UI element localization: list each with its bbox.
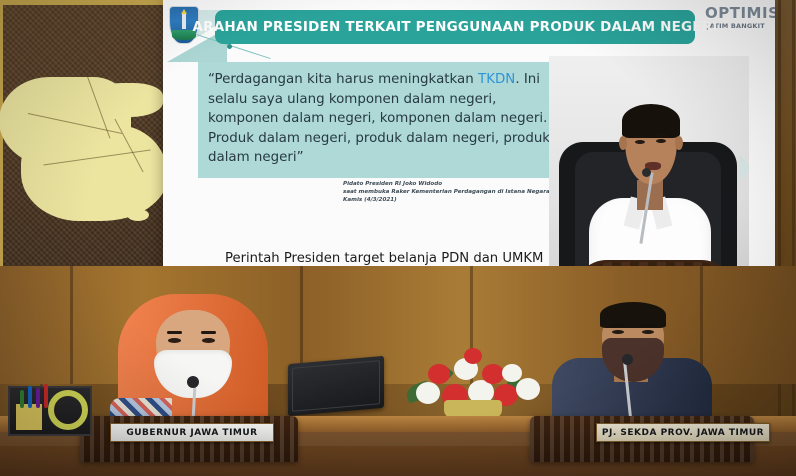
nameplate-governor-label: GUBERNUR JAWA TIMUR: [126, 428, 257, 438]
quote-text: “Perdagangan kita harus meningkatkan TKD…: [208, 70, 608, 168]
slide-title-bar: ARAHAN PRESIDEN TERKAIT PENGGUNAAN PRODU…: [215, 10, 695, 44]
slide-arrow-decoration: [739, 154, 749, 182]
microphone-head: [622, 354, 633, 365]
quote-line5: dalam negeri”: [208, 150, 304, 165]
foreground-room: GUBERNUR JAWA TIMUR PJ. SEKDA PROV. JAWA…: [0, 266, 796, 476]
east-java-relief-map: [0, 0, 176, 300]
map-island-shape: [87, 83, 163, 117]
quote-highlight-tkdn: TKDN: [478, 72, 515, 87]
slide-title: ARAHAN PRESIDEN TERKAIT PENGGUNAAN PRODU…: [192, 19, 717, 35]
map-island-shape: [121, 153, 165, 201]
map-island-shape: [127, 209, 149, 221]
screenshot-stage: OPTIMIS JATIM BANGKIT ARAHAN PRESIDEN TE…: [0, 0, 796, 476]
nameplate-governor: GUBERNUR JAWA TIMUR: [110, 423, 274, 442]
quote-line4: Produk dalam negeri, produk dalam negeri…: [208, 131, 550, 146]
yellow-ring: [48, 390, 88, 430]
nameplate-acting-secretary: PJ. SEKDA PROV. JAWA TIMUR: [596, 423, 770, 442]
desk-organizer: [8, 386, 92, 436]
quote-attribution: Pidato Presiden RI Joko Widodo saat memb…: [343, 180, 573, 205]
attribution-line-3: Kamis (4/3/2021): [343, 196, 573, 204]
map-surface: [3, 5, 165, 289]
quote-line3: komponen dalam negeri, komponen dalam ne…: [208, 111, 547, 126]
nameplate-acting-secretary-label: PJ. SEKDA PROV. JAWA TIMUR: [602, 428, 764, 438]
attribution-line-1: Pidato Presiden RI Joko Widodo: [343, 180, 573, 188]
quote-line2: selalu saya ulang komponen dalam negeri,: [208, 92, 496, 107]
quote-line1-b: . Ini: [515, 72, 540, 87]
microphone-head: [187, 376, 199, 388]
quote-line1-a: “Perdagangan kita harus meningkatkan: [208, 72, 478, 87]
attribution-line-2: saat membuka Raker Kementerian Perdagang…: [343, 188, 573, 196]
